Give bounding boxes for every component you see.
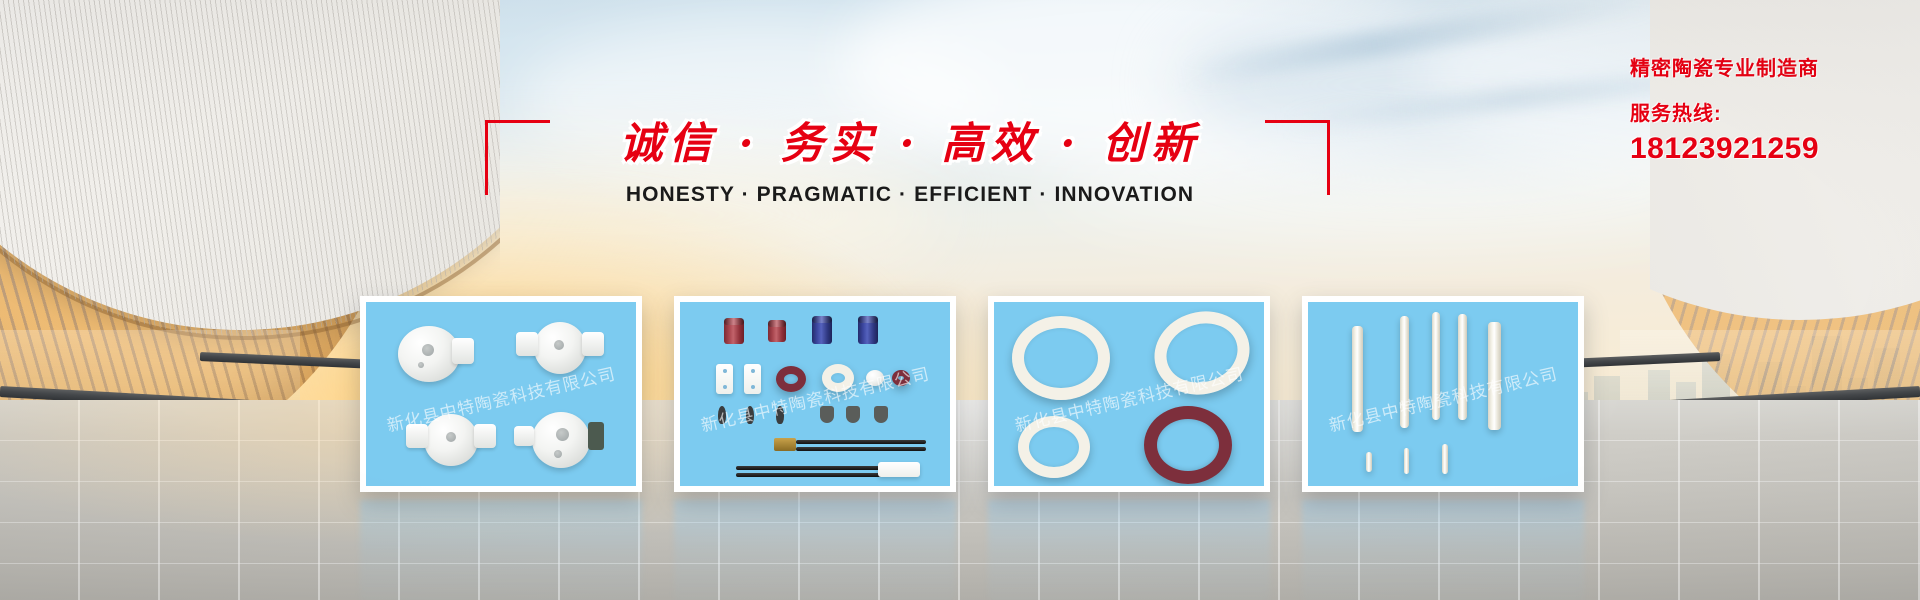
bracket-corner-left-icon: [485, 120, 550, 195]
product-panel-2[interactable]: 新化县中特陶瓷科技有限公司: [674, 296, 956, 492]
panel-reflection: [988, 500, 1270, 600]
panel-reflection: [360, 500, 642, 600]
slogan-chinese: 诚信 · 务实 · 高效 · 创新: [560, 118, 1260, 172]
hotline-label: 服务热线:: [1630, 97, 1880, 126]
product-image-3: 新化县中特陶瓷科技有限公司: [994, 302, 1264, 486]
slogan-english: HONESTY · PRAGMATIC · EFFICIENT · INNOVA…: [560, 183, 1260, 207]
contact-info-block: 精密陶瓷专业制造商 服务热线: 18123921259: [1630, 52, 1880, 166]
panel-reflection: [1302, 500, 1584, 600]
product-image-2: 新化县中特陶瓷科技有限公司: [680, 302, 950, 486]
product-panel-4[interactable]: 新化县中特陶瓷科技有限公司: [1302, 296, 1584, 492]
panel-reflection: [674, 500, 956, 600]
slogan-block: 诚信 · 务实 · 高效 · 创新 HONESTY · PRAGMATIC · …: [560, 118, 1260, 207]
product-panel-row: 新化县中特陶瓷科技有限公司: [360, 296, 1584, 492]
promo-banner: 诚信 · 务实 · 高效 · 创新 HONESTY · PRAGMATIC · …: [0, 0, 1920, 600]
product-panel-1[interactable]: 新化县中特陶瓷科技有限公司: [360, 296, 642, 492]
product-image-4: 新化县中特陶瓷科技有限公司: [1308, 302, 1578, 486]
hotline-number[interactable]: 18123921259: [1630, 132, 1880, 166]
company-tagline: 精密陶瓷专业制造商: [1630, 52, 1880, 81]
bracket-corner-right-icon: [1265, 120, 1330, 195]
product-image-1: 新化县中特陶瓷科技有限公司: [366, 302, 636, 486]
product-panel-3[interactable]: 新化县中特陶瓷科技有限公司: [988, 296, 1270, 492]
